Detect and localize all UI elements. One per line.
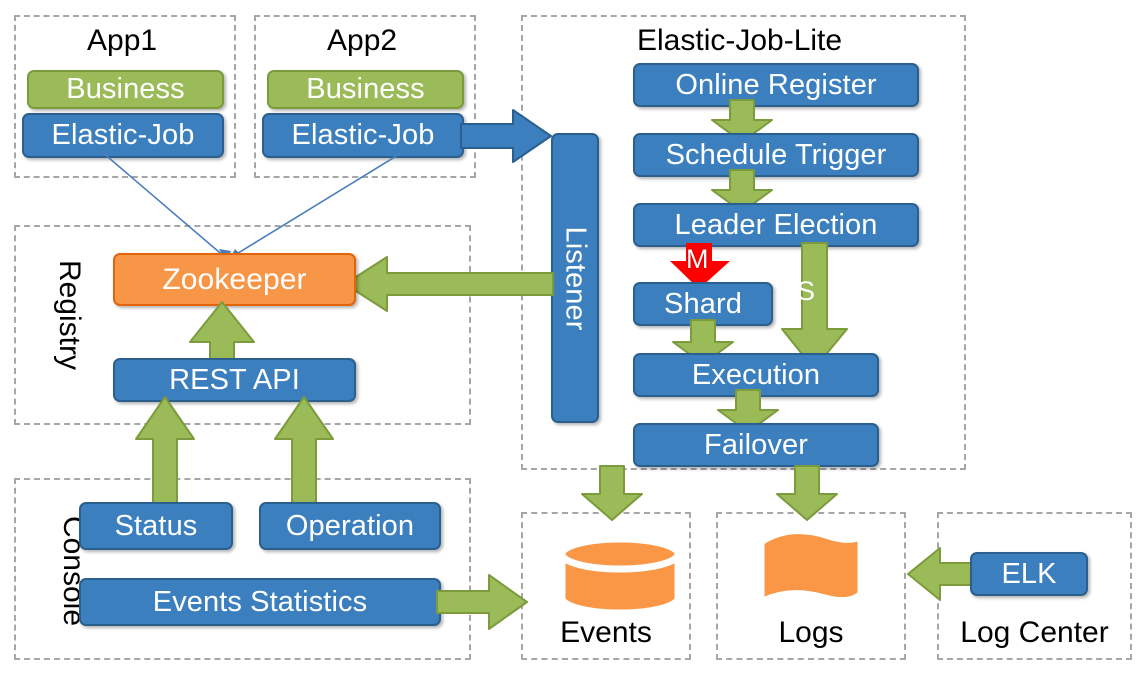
arrow-failover-to-logs — [773, 466, 841, 522]
node-app1-business[interactable]: Business — [27, 70, 224, 109]
node-online-register[interactable]: Online Register — [633, 63, 919, 107]
wavy-flag-icon — [755, 528, 867, 620]
group-logs-label: Logs — [716, 618, 906, 648]
group-app2-label: App2 — [327, 26, 397, 56]
arrow-slave-to-execution — [779, 243, 851, 371]
arrow-rest-api-to-zookeeper — [186, 300, 258, 366]
node-status[interactable]: Status — [79, 502, 233, 550]
group-elastic-job-lite-label: Elastic-Job-Lite — [637, 26, 842, 56]
node-listener[interactable]: Listener — [551, 133, 599, 423]
node-schedule-trigger[interactable]: Schedule Trigger — [633, 133, 919, 177]
database-cylinder-icon — [556, 537, 684, 615]
group-events-label: Events — [521, 618, 691, 648]
arrow-operation-to-rest-api — [272, 395, 336, 507]
node-failover[interactable]: Failover — [633, 423, 879, 467]
edge-label-master: M — [686, 246, 709, 273]
node-leader-election[interactable]: Leader Election — [633, 203, 919, 247]
node-zookeeper[interactable]: Zookeeper — [113, 253, 356, 306]
node-app2-business[interactable]: Business — [267, 70, 464, 109]
edge-label-slave: S — [797, 278, 815, 305]
arrow-status-to-rest-api — [133, 395, 197, 507]
node-elk[interactable]: ELK — [970, 552, 1088, 596]
arrow-listener-to-zookeeper — [343, 255, 555, 313]
arrow-events-statistics-to-events — [437, 573, 529, 631]
node-events-statistics[interactable]: Events Statistics — [79, 578, 441, 626]
group-log-center-label: Log Center — [937, 618, 1132, 648]
arrow-app2-to-listener — [461, 108, 553, 164]
group-registry-label: Registry — [54, 260, 84, 370]
arrow-failover-to-events — [578, 466, 646, 522]
node-operation[interactable]: Operation — [259, 502, 441, 550]
connector-app2-to-zookeeper — [225, 150, 405, 265]
architecture-diagram: App1 App2 Elastic-Job-Lite Registry Cons… — [0, 0, 1146, 682]
arrow-elk-to-logs — [906, 546, 978, 602]
node-listener-label: Listener — [559, 226, 592, 330]
group-app1-label: App1 — [87, 26, 157, 56]
